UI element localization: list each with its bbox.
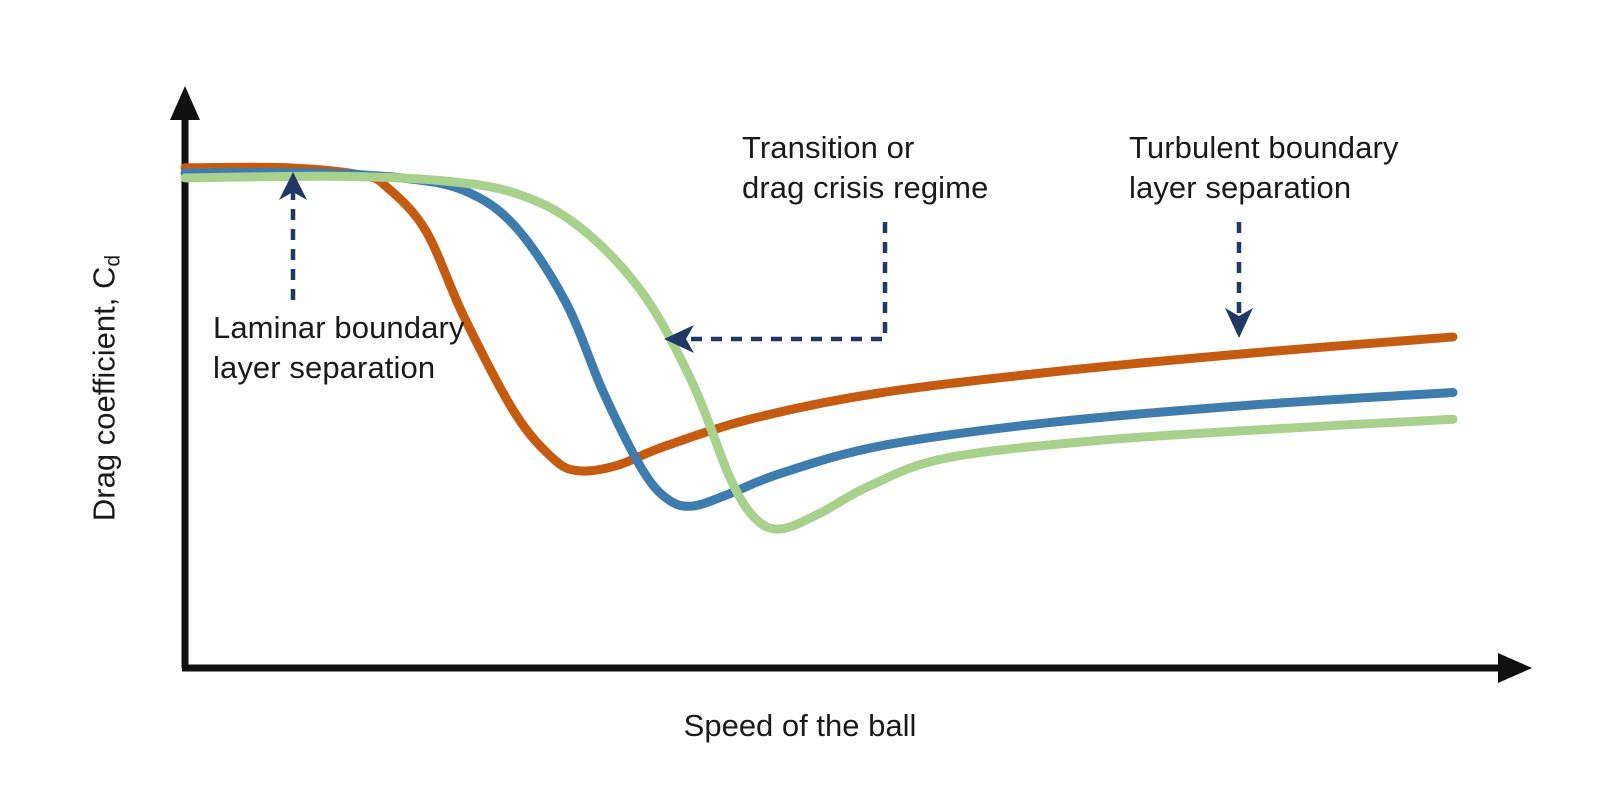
- y-axis-title-main: Drag coefficient, C: [87, 267, 122, 521]
- chart-canvas: [0, 0, 1600, 800]
- transition-arrow-icon: [664, 222, 885, 353]
- annotation-laminar-label: Laminar boundary layer separation: [213, 308, 464, 388]
- laminar-arrow-icon: [279, 172, 307, 300]
- annotation-transition-label: Transition or drag crisis regime: [742, 128, 988, 208]
- y-axis-title-subscript: d: [101, 255, 124, 267]
- annotation-turbulent-label: Turbulent boundary layer separation: [1129, 128, 1399, 208]
- x-axis-title: Speed of the ball: [0, 708, 1600, 744]
- x-axis-arrowhead-icon: [1498, 653, 1532, 683]
- turbulent-arrow-icon: [1225, 222, 1253, 338]
- y-axis-title: Drag coefficient, Cd: [87, 255, 126, 521]
- y-axis-arrowhead-icon: [170, 86, 200, 120]
- drag-coefficient-chart: Laminar boundary layer separation Transi…: [0, 0, 1600, 800]
- y-axis-title-wrapper: Drag coefficient, Cd: [86, 218, 126, 558]
